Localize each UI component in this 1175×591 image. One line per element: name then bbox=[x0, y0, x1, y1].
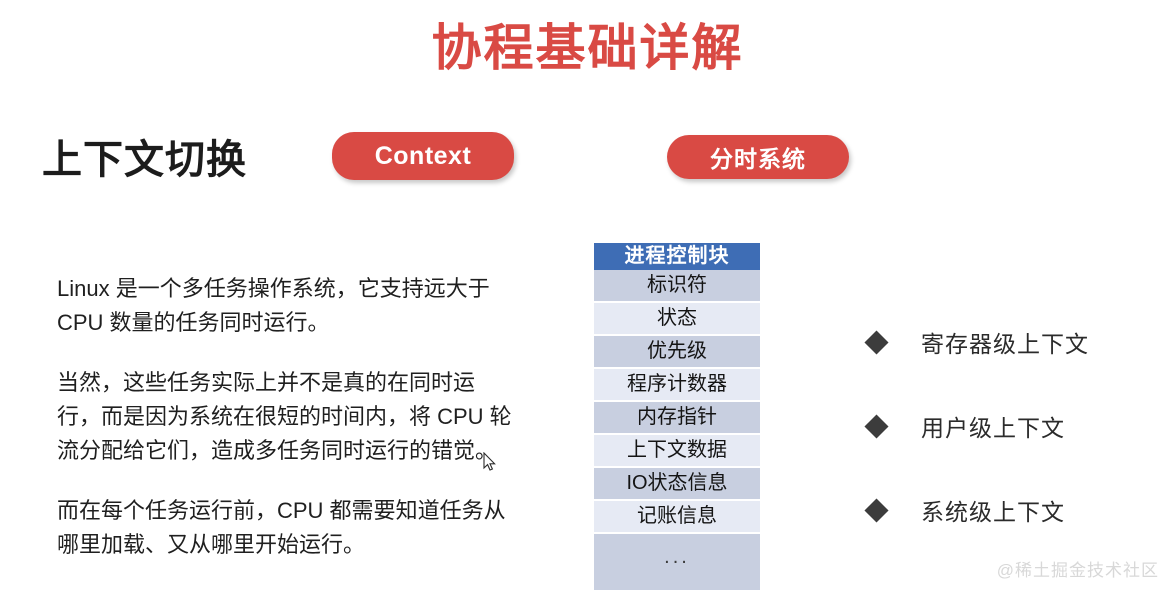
watermark: @稀土掘金技术社区 bbox=[997, 556, 1159, 581]
section-heading: 上下文切换 bbox=[42, 127, 247, 185]
table-header: 进程控制块 bbox=[594, 243, 760, 270]
pill-time-sharing-system[interactable]: 分时系统 bbox=[667, 135, 849, 179]
body-copy: Linux 是一个多任务操作系统，它支持远大于 CPU 数量的任务同时运行。 当… bbox=[57, 272, 512, 562]
table-row: 标识符 bbox=[594, 270, 760, 303]
diamond-bullet-icon bbox=[864, 498, 888, 522]
table-row: 状态 bbox=[594, 303, 760, 336]
list-item: 寄存器级上下文 bbox=[868, 300, 1158, 384]
table-row: 优先级 bbox=[594, 336, 760, 369]
list-item-label: 用户级上下文 bbox=[921, 409, 1065, 443]
page-title: 协程基础详解 bbox=[0, 18, 1175, 78]
list-item-label: 系统级上下文 bbox=[921, 493, 1065, 527]
list-item: 用户级上下文 bbox=[868, 384, 1158, 468]
diamond-bullet-icon bbox=[864, 330, 888, 354]
table-row: IO状态信息 bbox=[594, 468, 760, 501]
table-row: ... bbox=[594, 534, 760, 590]
body-paragraph-1: Linux 是一个多任务操作系统，它支持远大于 CPU 数量的任务同时运行。 bbox=[57, 272, 512, 340]
process-control-block-table: 进程控制块 标识符 状态 优先级 程序计数器 内存指针 上下文数据 IO状态信息… bbox=[594, 243, 760, 590]
context-levels-list: 寄存器级上下文 用户级上下文 系统级上下文 bbox=[868, 300, 1158, 552]
diamond-bullet-icon bbox=[864, 414, 888, 438]
table-row: 内存指针 bbox=[594, 402, 760, 435]
table-row: 记账信息 bbox=[594, 501, 760, 534]
list-item: 系统级上下文 bbox=[868, 468, 1158, 552]
pill-context[interactable]: Context bbox=[332, 132, 514, 180]
body-paragraph-3: 而在每个任务运行前，CPU 都需要知道任务从哪里加载、又从哪里开始运行。 bbox=[57, 494, 512, 562]
table-row: 程序计数器 bbox=[594, 369, 760, 402]
body-paragraph-2: 当然，这些任务实际上并不是真的在同时运行，而是因为系统在很短的时间内，将 CPU… bbox=[57, 366, 512, 468]
table-row: 上下文数据 bbox=[594, 435, 760, 468]
list-item-label: 寄存器级上下文 bbox=[921, 325, 1089, 359]
